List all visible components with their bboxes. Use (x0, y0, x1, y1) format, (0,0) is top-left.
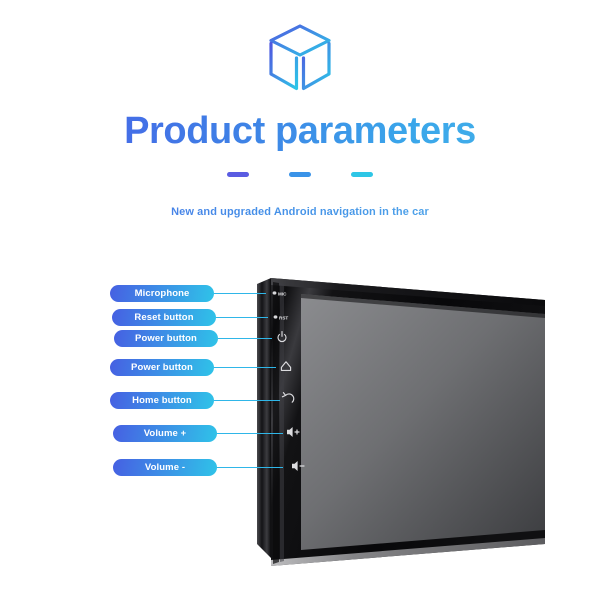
cube-outline-icon (265, 22, 335, 94)
callout-label-pill[interactable]: Microphone (110, 285, 214, 302)
callout-leader-line (217, 433, 283, 434)
page-subtitle: New and upgraded Android navigation in t… (0, 206, 600, 218)
page-title: Product parameters (0, 108, 600, 154)
device-illustration: MIC RST (253, 272, 545, 572)
callout-3: Power button (114, 330, 272, 347)
callout-leader-line (217, 467, 283, 468)
callout-leader-line (216, 317, 268, 318)
callout-7: Volume - (113, 459, 283, 476)
dash-purple (227, 172, 249, 177)
callout-label-pill[interactable]: Reset button (112, 309, 216, 326)
callout-label-pill[interactable]: Volume - (113, 459, 217, 476)
rst-label: RST (279, 315, 288, 320)
callout-leader-line (214, 400, 280, 401)
callout-leader-line (214, 293, 266, 294)
callout-5: Home button (110, 392, 280, 409)
brand-logo (0, 22, 600, 94)
title-dash-row (0, 172, 600, 177)
reset-pinhole-icon (274, 315, 278, 318)
callout-leader-line (214, 367, 276, 368)
callout-2: Reset button (112, 309, 268, 326)
callout-4: Power button (110, 359, 276, 376)
callout-6: Volume + (113, 425, 283, 442)
callout-label-pill[interactable]: Home button (110, 392, 214, 409)
callout-label-pill[interactable]: Power button (114, 330, 218, 347)
callout-label-pill[interactable]: Volume + (113, 425, 217, 442)
callout-1: Microphone (110, 285, 266, 302)
callout-leader-line (218, 338, 272, 339)
mic-label: MIC (278, 291, 287, 296)
callout-label-pill[interactable]: Power button (110, 359, 214, 376)
microphone-hole-icon (273, 291, 277, 294)
dash-blue (289, 172, 311, 177)
car-navigation-head-unit: MIC RST (253, 272, 545, 572)
dash-cyan (351, 172, 373, 177)
product-parameters-page: Product parameters New and upgraded Andr… (0, 0, 600, 600)
